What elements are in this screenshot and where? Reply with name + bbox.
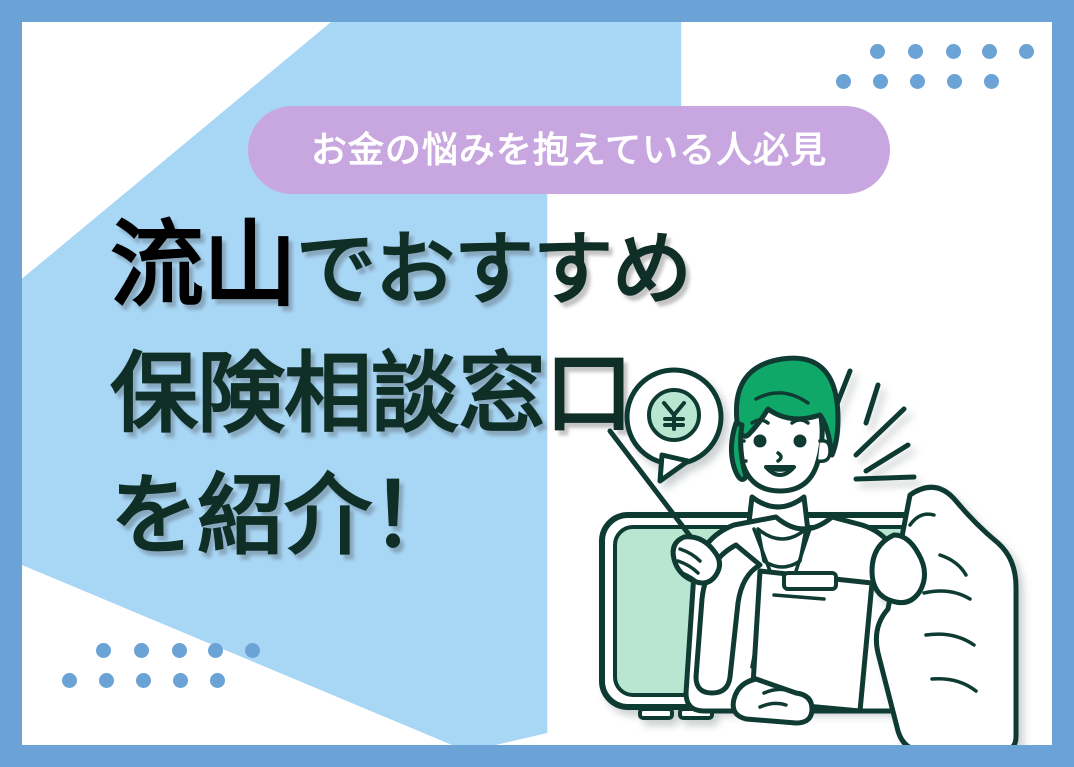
dot <box>984 74 999 89</box>
dot <box>172 643 187 658</box>
banner-root: お金の悩みを抱えている人必見 流山でおすすめ 保険相談窓口 を紹介！ .ln{f… <box>0 0 1074 767</box>
dot <box>208 643 223 658</box>
dot <box>99 673 114 688</box>
dot <box>836 74 851 89</box>
eye-right <box>794 435 807 448</box>
headline-line-1-suffix: でおすすめ <box>296 225 691 314</box>
banner-canvas: お金の悩みを抱えている人必見 流山でおすすめ 保険相談窓口 を紹介！ .ln{f… <box>22 22 1052 745</box>
dot <box>136 673 151 688</box>
dot <box>910 74 925 89</box>
dot <box>96 643 111 658</box>
dot <box>173 673 188 688</box>
dot <box>873 74 888 89</box>
illustration-woman-advisor: .ln{fill:none;stroke:#0F3B33;stroke-widt… <box>588 349 1052 745</box>
dot-grid-top-right <box>826 40 1026 110</box>
dot <box>62 673 77 688</box>
dot <box>908 44 923 59</box>
action-lines-icon <box>828 371 914 479</box>
dot <box>947 74 962 89</box>
eyebrow-badge-text: お金の悩みを抱えている人必見 <box>311 132 827 168</box>
eye-left <box>754 435 767 448</box>
eyebrow-badge: お金の悩みを抱えている人必見 <box>248 106 890 194</box>
headline-city: 流山 <box>110 212 296 317</box>
dot-grid-bottom-left <box>52 639 252 709</box>
dot <box>245 643 260 658</box>
person-head <box>731 358 838 491</box>
dot <box>134 643 149 658</box>
dot <box>982 44 997 59</box>
yen-speech-bubble-icon <box>627 370 721 481</box>
headline-line-1: 流山でおすすめ <box>110 218 810 312</box>
dot <box>946 44 961 59</box>
dot <box>1019 44 1034 59</box>
dot <box>210 673 225 688</box>
dot <box>870 44 885 59</box>
